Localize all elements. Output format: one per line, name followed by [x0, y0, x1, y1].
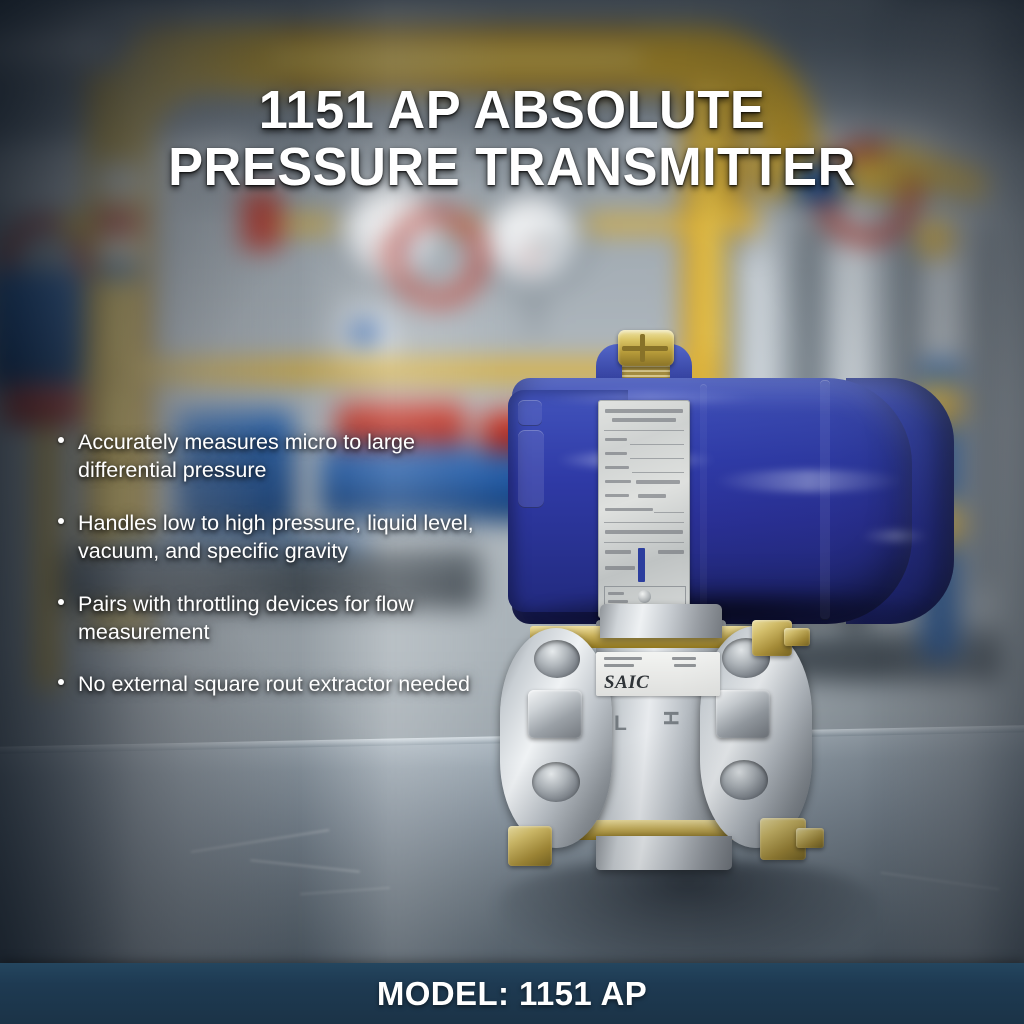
flange-bolt-hole — [532, 762, 580, 802]
housing-conduit-port — [518, 430, 544, 508]
nameplate-text-line — [605, 566, 635, 570]
nameplate-rule — [604, 542, 684, 543]
brass-nipple — [784, 628, 810, 646]
list-item: Handles low to high pressure, liquid lev… — [52, 509, 490, 566]
nameplate-text-line — [608, 600, 628, 603]
housing-conduit-port — [518, 400, 542, 426]
feature-list: Accurately measures micro to large diffe… — [52, 428, 490, 723]
nameplate-text-line — [605, 480, 631, 483]
label-text-line — [672, 657, 696, 660]
title-line-2: PRESSURE TRANSMITTER — [15, 139, 1008, 196]
flange-brand-text: SAIC — [604, 672, 649, 694]
label-text-line — [604, 657, 642, 660]
nameplate-text-line — [605, 530, 683, 534]
nameplate-text-line — [612, 418, 676, 422]
flange-bolt-hole — [720, 760, 768, 800]
brass-nipple — [796, 828, 824, 848]
model-banner-text: MODEL: 1151 AP — [377, 975, 647, 1013]
port-marking-high: H — [661, 710, 685, 725]
label-text-line — [604, 664, 634, 667]
nameplate-text-line — [636, 480, 680, 484]
flange-hex-bolt — [716, 690, 770, 738]
nameplate-text-line — [605, 438, 627, 441]
list-item: Accurately measures micro to large diffe… — [52, 428, 490, 485]
nameplate-text-line — [605, 466, 629, 469]
nameplate-rule — [630, 458, 684, 459]
housing-highlight — [860, 530, 930, 542]
model-banner: MODEL: 1151 AP — [0, 963, 1024, 1024]
nameplate-text-line — [638, 494, 666, 498]
nameplate-rule — [630, 444, 684, 445]
nameplate-text-line — [605, 494, 629, 497]
list-item: No external square rout extractor needed — [52, 670, 490, 698]
flange-spec-label: SAIC — [596, 652, 720, 696]
nameplate-text-line — [608, 592, 624, 595]
flange-bottom-plate — [596, 836, 732, 870]
nameplate-text-line — [605, 452, 627, 455]
flange-bolt-hole — [534, 640, 580, 678]
nameplate-text-line — [658, 550, 684, 554]
nameplate-rule — [604, 430, 684, 431]
brass-hex-nut — [508, 826, 552, 866]
nameplate-rule — [632, 472, 684, 473]
flange-hex-bolt — [528, 690, 582, 738]
device-nameplate — [598, 400, 690, 618]
nameplate-rule — [604, 522, 684, 523]
title-line-1: 1151 AP ABSOLUTE — [15, 82, 1008, 139]
nameplate-text-line — [605, 409, 683, 413]
product-infographic: SAIC L H 1151 AP ABSOLUTE PRESSURE TRANS… — [0, 0, 1024, 1024]
bolt-slot — [622, 346, 668, 351]
flange-top-saddle — [600, 604, 722, 638]
nameplate-screw — [638, 590, 651, 603]
nameplate-text-line — [605, 508, 653, 511]
port-marking-low: L — [614, 712, 627, 736]
page-title: 1151 AP ABSOLUTE PRESSURE TRANSMITTER — [15, 82, 1008, 196]
nameplate-rule — [654, 512, 684, 513]
housing-seam-ring — [820, 380, 830, 620]
label-text-line — [674, 664, 696, 667]
nameplate-indicator — [638, 548, 645, 582]
list-item: Pairs with throttling devices for flow m… — [52, 590, 490, 647]
housing-highlight — [714, 470, 904, 492]
housing-seam-ring — [700, 384, 707, 616]
nameplate-text-line — [605, 550, 631, 554]
